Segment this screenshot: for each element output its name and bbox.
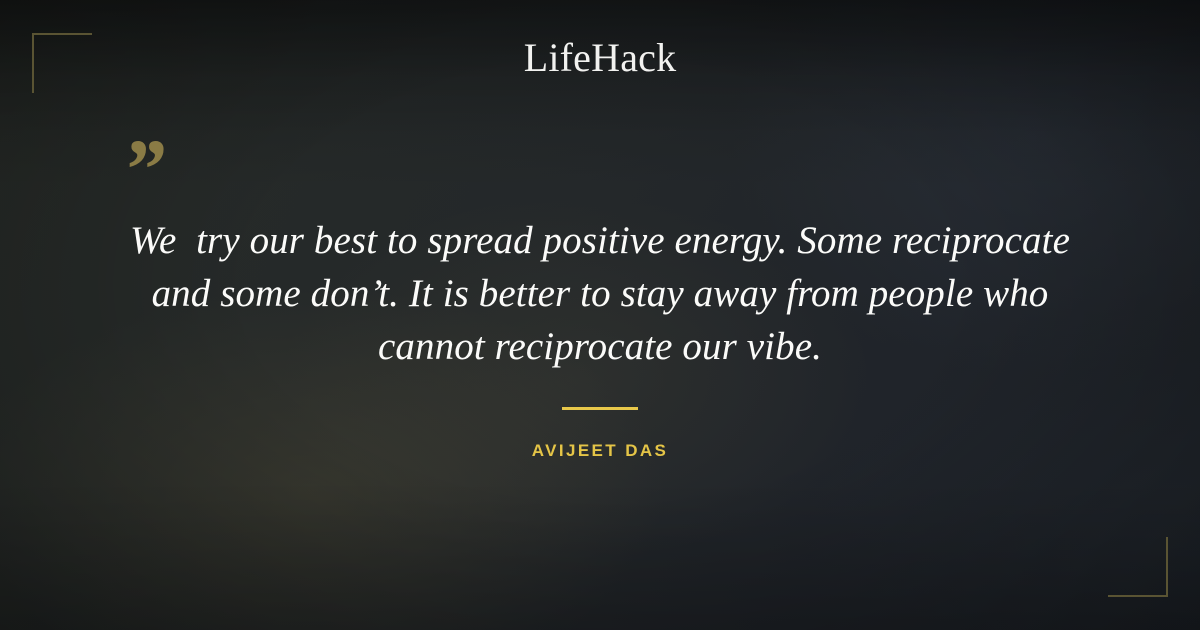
author-divider — [562, 407, 638, 410]
brand-logo: LifeHack — [0, 38, 1200, 78]
quote-line: and some don’t. It is better to stay awa… — [95, 267, 1105, 320]
quote-line: cannot reciprocate our vibe. — [95, 320, 1105, 373]
quotation-mark-icon: ” — [122, 126, 165, 212]
quote-line: We try our best to spread positive energ… — [95, 214, 1105, 267]
quote-card: LifeHack ” We try our best to spread pos… — [0, 0, 1200, 630]
corner-bracket-bottom-right-icon — [1108, 537, 1168, 597]
author-name: AVIJEET DAS — [0, 441, 1200, 461]
quote-text-block: We try our best to spread positive energ… — [95, 214, 1105, 373]
